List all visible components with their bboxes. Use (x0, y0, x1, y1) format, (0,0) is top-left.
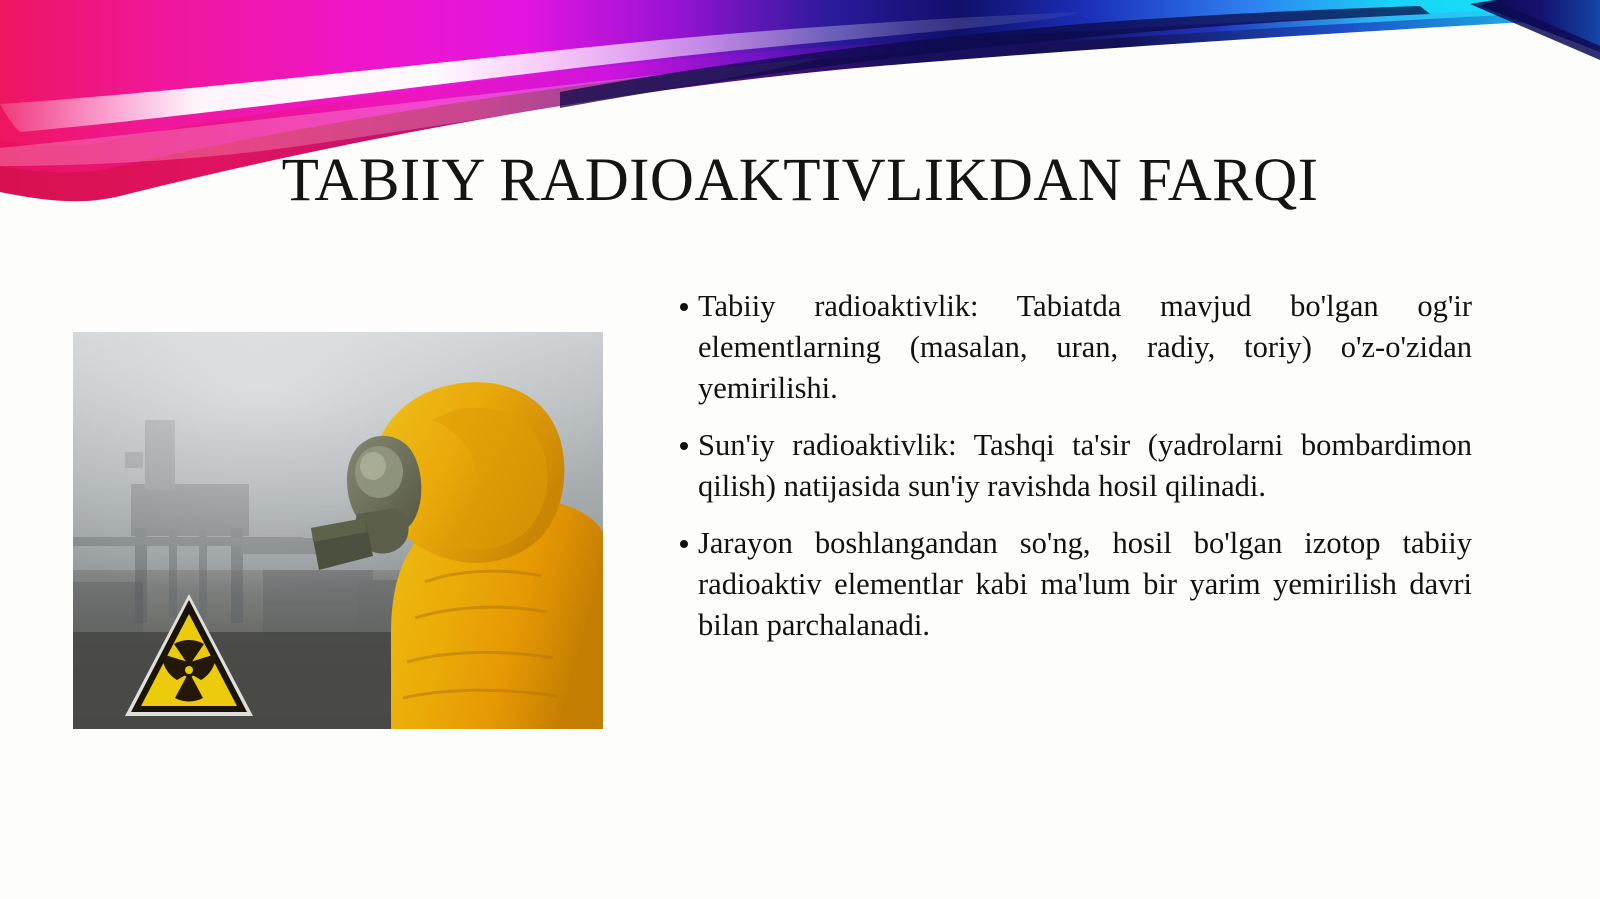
list-item: Tabiiy radioaktivlik: Tabiatda mavjud bo… (660, 286, 1472, 409)
bullet-dot-icon (680, 303, 688, 311)
list-item: Sun'iy radioaktivlik: Tashqi ta'sir (yad… (660, 425, 1472, 507)
bullet-dot-icon (680, 442, 688, 450)
bullet-text: Tabiiy radioaktivlik: Tabiatda mavjud bo… (698, 289, 1472, 405)
hazmat-worker-radiation-photo (73, 332, 603, 729)
slide-title: TABIIY RADIOAKTIVLIKDAN FARQI (0, 149, 1600, 213)
photo-vignette (73, 332, 603, 729)
presentation-slide: TABIIY RADIOAKTIVLIKDAN FARQI (0, 0, 1600, 899)
bullet-text: Jarayon boshlangandan so'ng, hosil bo'lg… (698, 526, 1472, 642)
bullet-text: Sun'iy radioaktivlik: Tashqi ta'sir (yad… (698, 428, 1472, 503)
swoosh-highlight (0, 12, 1080, 132)
swoosh-dark-edge (560, 6, 1430, 108)
list-item: Jarayon boshlangandan so'ng, hosil bo'lg… (660, 523, 1472, 646)
swoosh-corner-stripe (1480, 0, 1600, 52)
photo-graphic (73, 332, 603, 729)
bullet-dot-icon (680, 540, 688, 548)
bullet-list: Tabiiy radioaktivlik: Tabiatda mavjud bo… (660, 286, 1472, 646)
swoosh-corner-stripe-shadow (1470, 0, 1600, 60)
swoosh-band-upper (0, 0, 1600, 146)
